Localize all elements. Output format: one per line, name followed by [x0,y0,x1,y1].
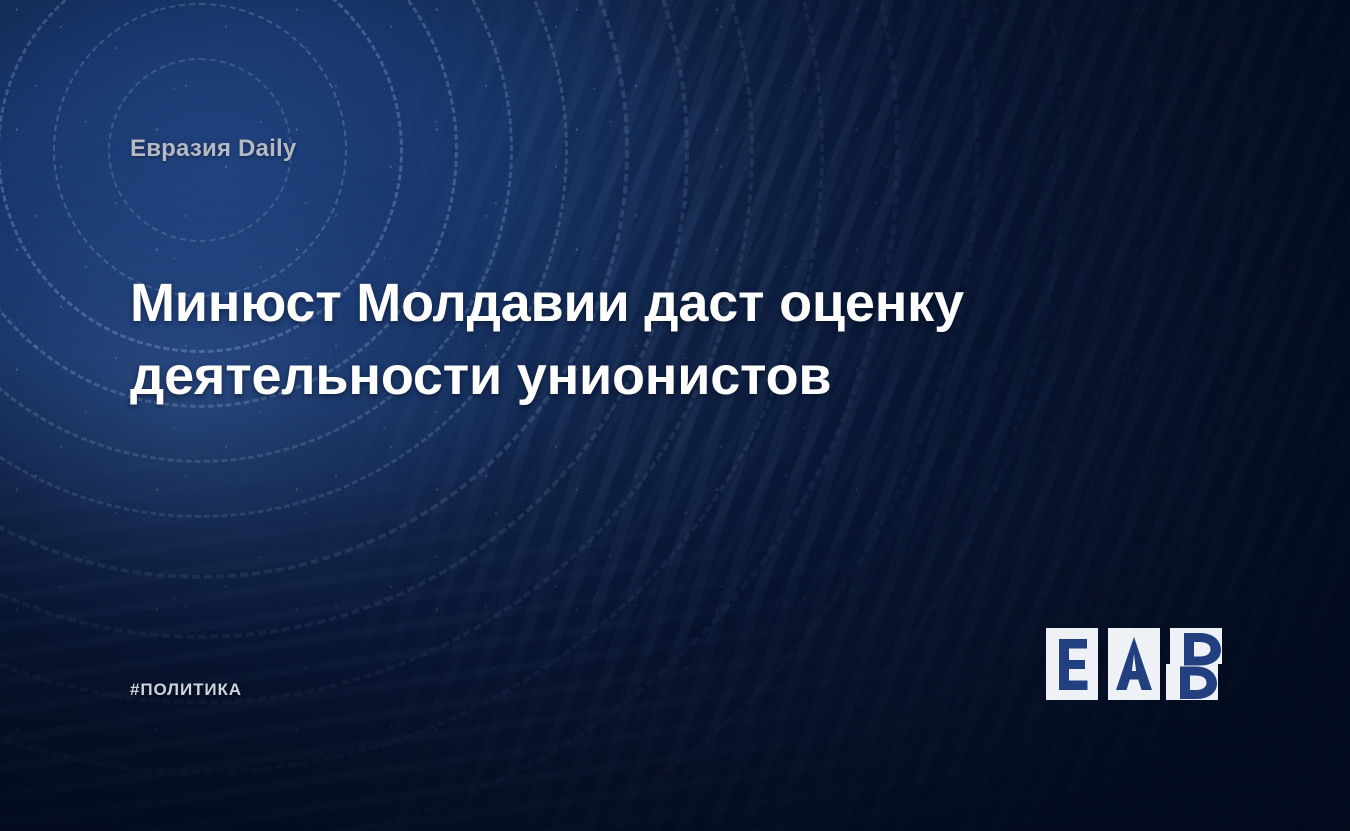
letter-e-icon [1046,628,1098,700]
article-headline: Минюст Молдавии даст оценку деятельности… [130,267,1010,414]
logo-tile-d [1170,628,1222,700]
site-name: Евразия Daily [130,135,296,163]
logo-tile-e [1046,628,1098,700]
card-content: Евразия Daily Минюст Молдавии даст оценк… [0,0,1350,831]
letter-a-icon [1108,628,1160,700]
letter-d-icon [1170,628,1222,700]
ead-logo [1046,628,1222,700]
news-share-card: Евразия Daily Минюст Молдавии даст оценк… [0,0,1350,831]
category-hashtag: #ПОЛИТИКА [130,680,242,700]
logo-tile-a [1108,628,1160,700]
